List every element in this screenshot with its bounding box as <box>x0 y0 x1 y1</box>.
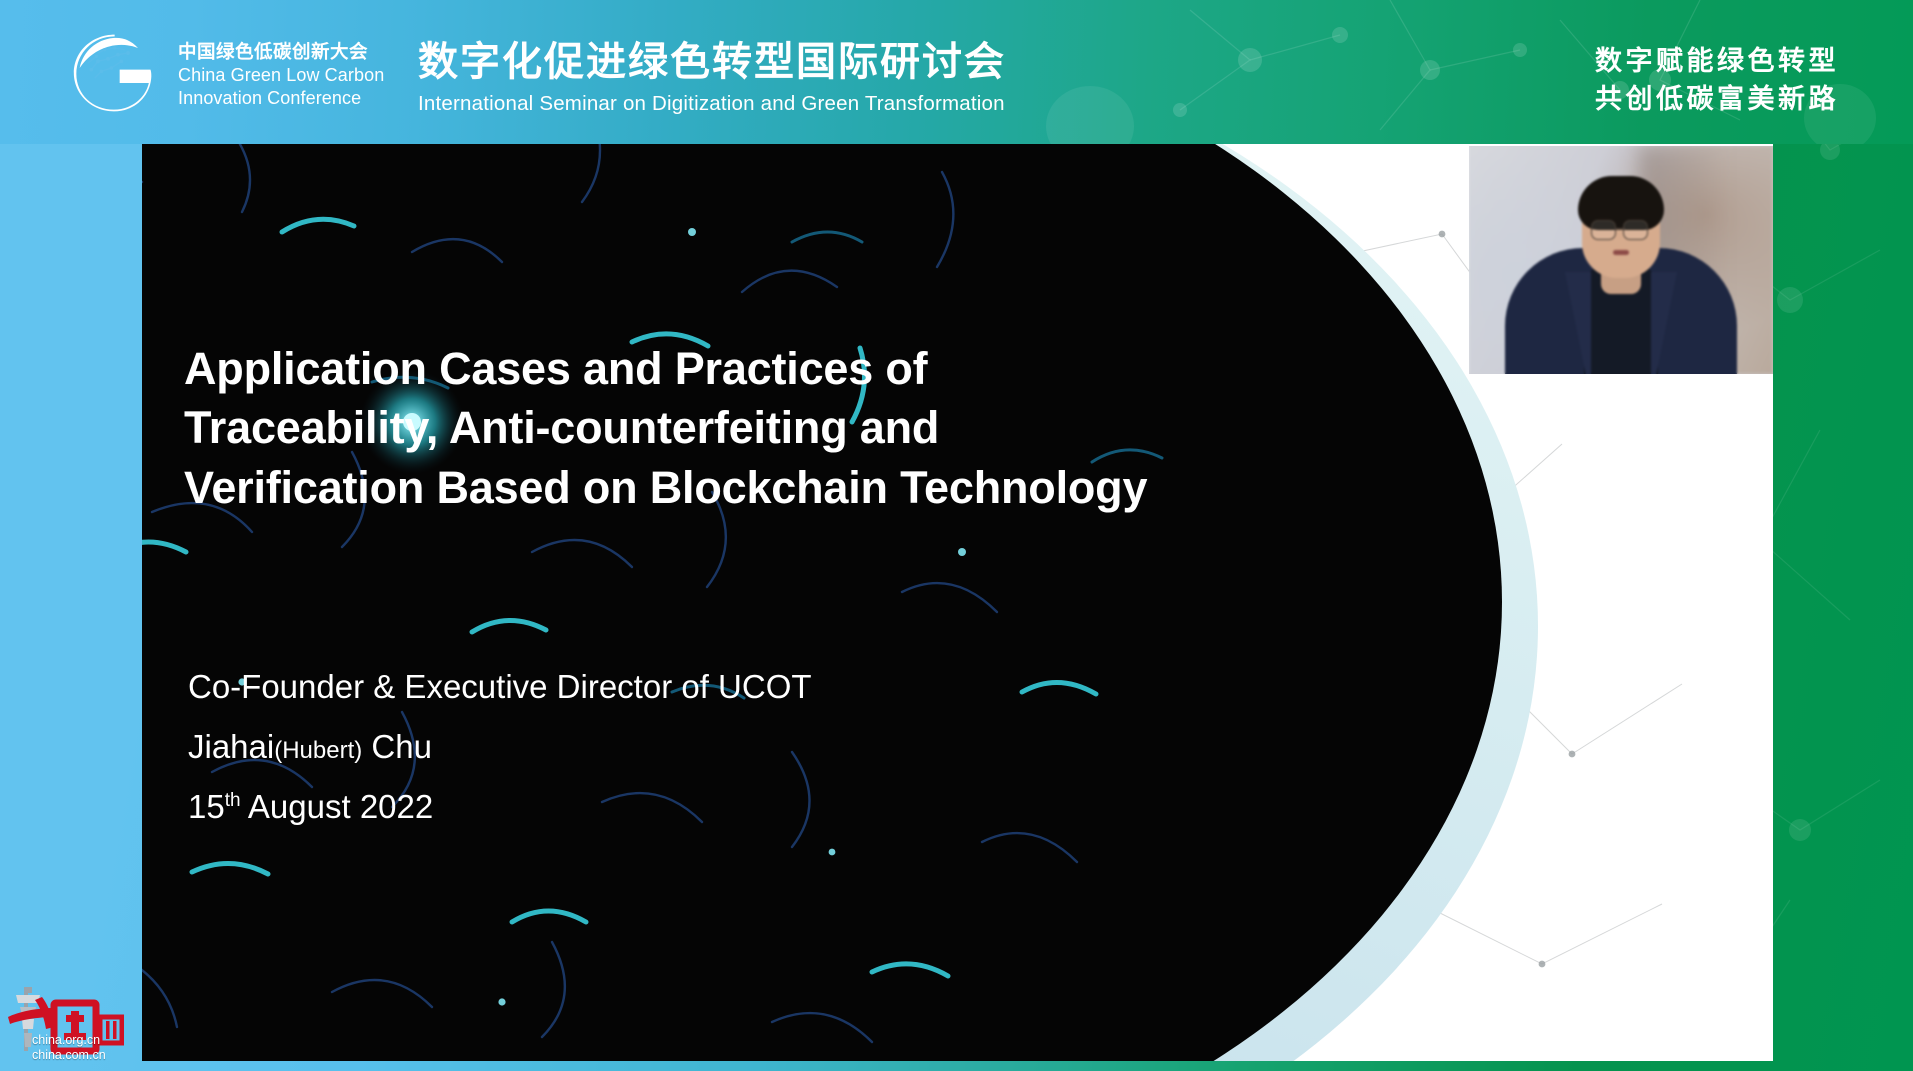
conference-name-cn: 中国绿色低碳创新大会 <box>178 40 384 64</box>
seminar-title-block: 数字化促进绿色转型国际研讨会 International Seminar on … <box>418 40 1006 116</box>
conference-name-en-line2: Innovation Conference <box>178 87 384 110</box>
particle-field-art <box>142 144 1502 1061</box>
speaker-name: Jiahai(Hubert) Chu <box>188 717 812 777</box>
presentation-date: 15th August 2022 <box>188 777 812 837</box>
speaker-role: Co-Founder & Executive Director of UCOT <box>188 657 812 717</box>
presentation-slide[interactable]: Application Cases and Practices of Trace… <box>142 144 1773 1061</box>
date-month-year: August 2022 <box>241 788 434 825</box>
event-header-band: 中国绿色低碳创新大会 China Green Low Carbon Innova… <box>0 0 1913 144</box>
presenter-video-tile[interactable] <box>1469 146 1773 374</box>
slide-speaker-block: Co-Founder & Executive Director of UCOT … <box>188 657 812 837</box>
event-slogan-line1: 数字赋能绿色转型 <box>1595 42 1839 80</box>
conference-name-block: 中国绿色低碳创新大会 China Green Low Carbon Innova… <box>178 40 384 110</box>
conference-name-en-line1: China Green Low Carbon <box>178 64 384 87</box>
event-slogan-block: 数字赋能绿色转型 共创低碳富美新路 <box>1595 42 1839 119</box>
slide-hero-disc <box>142 144 1502 1061</box>
slide-title-line3: Verification Based on Blockchain Technol… <box>184 458 1304 517</box>
cglc-g-logo-icon <box>70 33 156 113</box>
date-ordinal-suffix: th <box>225 790 241 811</box>
speaker-name-first: Jiahai <box>188 728 274 765</box>
slide-title: Application Cases and Practices of Trace… <box>184 339 1304 517</box>
watermark-domains: china.org.cn china.com.cn <box>32 1033 106 1064</box>
seminar-title-cn: 数字化促进绿色转型国际研讨会 <box>418 40 1006 84</box>
date-day: 15 <box>188 788 225 825</box>
screen-canvas: 中国绿色低碳创新大会 China Green Low Carbon Innova… <box>0 0 1913 1071</box>
watermark-domain-line2: china.com.cn <box>32 1048 106 1063</box>
slide-title-line1: Application Cases and Practices of <box>184 339 1304 398</box>
china-net-watermark: china.org.cn china.com.cn <box>2 981 124 1069</box>
speaker-name-surname: Chu <box>362 728 432 765</box>
webcam-soft-focus-overlay <box>1469 146 1773 374</box>
slide-title-line2: Traceability, Anti-counterfeiting and <box>184 398 1304 457</box>
speaker-name-alias: (Hubert) <box>274 737 362 764</box>
event-slogan-line2: 共创低碳富美新路 <box>1595 80 1839 118</box>
seminar-title-en: International Seminar on Digitization an… <box>418 92 1006 116</box>
watermark-domain-line1: china.org.cn <box>32 1033 106 1048</box>
